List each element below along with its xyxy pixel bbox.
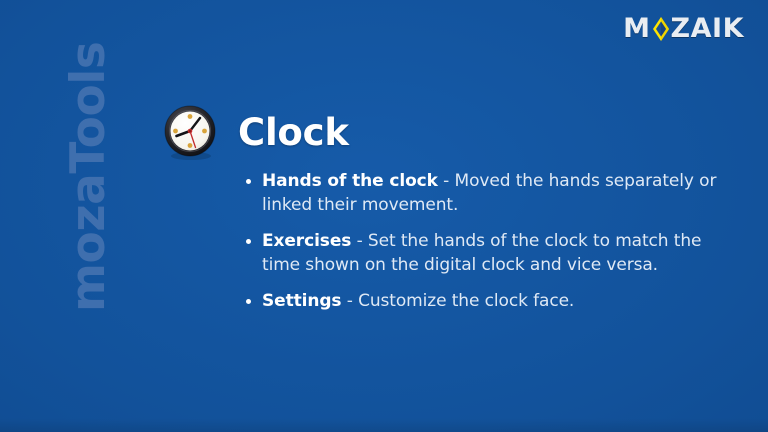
- clock-icon: [162, 104, 220, 162]
- feature-separator: -: [351, 231, 368, 251]
- feature-term: Hands of the clock: [262, 171, 438, 191]
- logo-prefix-text: M: [623, 14, 650, 44]
- feature-description: Customize the clock face.: [358, 291, 574, 311]
- page-header: Clock: [162, 104, 349, 162]
- feature-list: Hands of the clock - Moved the hands sep…: [244, 170, 722, 314]
- list-item: Settings - Customize the clock face.: [244, 290, 722, 314]
- feature-separator: -: [341, 291, 358, 311]
- vertical-brand-label: mozaTools: [64, 22, 114, 312]
- bottom-strip: [0, 418, 768, 432]
- feature-term: Settings: [262, 291, 341, 311]
- mozaik-logo: M ZAIK: [623, 14, 744, 44]
- feature-term: Exercises: [262, 231, 351, 251]
- bullet-icon: [246, 239, 251, 244]
- feature-separator: -: [438, 171, 455, 191]
- slide-canvas: mozaTools M ZAIK: [0, 0, 768, 432]
- logo-suffix-text: ZAIK: [671, 14, 744, 44]
- list-item: Exercises - Set the hands of the clock t…: [244, 230, 722, 277]
- list-item: Hands of the clock - Moved the hands sep…: [244, 170, 722, 217]
- bullet-icon: [246, 179, 251, 184]
- diamond-icon: [652, 16, 670, 42]
- page-title: Clock: [238, 113, 349, 153]
- bullet-icon: [246, 299, 251, 304]
